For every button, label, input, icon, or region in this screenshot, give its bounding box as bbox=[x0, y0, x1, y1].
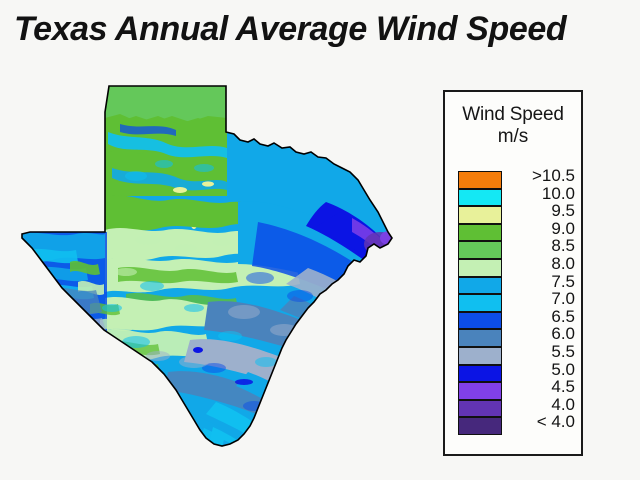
legend-color-swatch bbox=[458, 294, 502, 312]
legend-color-swatch bbox=[458, 347, 502, 365]
legend-color-swatch bbox=[458, 417, 502, 435]
legend-label: 4.0 bbox=[505, 396, 575, 414]
page-title: Texas Annual Average Wind Speed bbox=[14, 10, 566, 49]
legend-color-swatch bbox=[458, 329, 502, 347]
legend-label: 10.0 bbox=[505, 185, 575, 203]
legend-entries: >10.510.09.59.08.58.07.57.06.56.05.55.04… bbox=[445, 171, 581, 435]
texas-wind-speed-map bbox=[8, 72, 438, 472]
legend-label: < 4.0 bbox=[505, 413, 575, 431]
legend-label: 7.0 bbox=[505, 290, 575, 308]
legend-label: 5.0 bbox=[505, 361, 575, 379]
legend-color-swatch bbox=[458, 206, 502, 224]
legend-color-swatch bbox=[458, 189, 502, 207]
legend-label: 9.0 bbox=[505, 220, 575, 238]
legend-color-swatch bbox=[458, 400, 502, 418]
legend-panel: Wind Speed m/s >10.510.09.59.08.58.07.57… bbox=[443, 90, 583, 456]
map-container bbox=[8, 72, 438, 472]
legend-color-swatch bbox=[458, 277, 502, 295]
legend-label: 6.0 bbox=[505, 325, 575, 343]
wind-speed-map-page: Texas Annual Average Wind Speed bbox=[0, 0, 640, 480]
legend-label: 8.0 bbox=[505, 255, 575, 273]
legend-label: 5.5 bbox=[505, 343, 575, 361]
legend-color-swatch bbox=[458, 171, 502, 189]
legend-row: < 4.0 bbox=[445, 417, 581, 435]
legend-label: 8.5 bbox=[505, 237, 575, 255]
legend-label: 7.5 bbox=[505, 273, 575, 291]
legend-color-swatch bbox=[458, 259, 502, 277]
legend-color-swatch bbox=[458, 241, 502, 259]
legend-label: 6.5 bbox=[505, 308, 575, 326]
legend-label: 4.5 bbox=[505, 378, 575, 396]
legend-label: >10.5 bbox=[505, 167, 575, 185]
legend-color-swatch bbox=[458, 224, 502, 242]
legend-color-swatch bbox=[458, 382, 502, 400]
wind-speed-raster bbox=[8, 72, 438, 472]
legend-units: m/s bbox=[445, 126, 581, 148]
legend-label: 9.5 bbox=[505, 202, 575, 220]
legend-title: Wind Speed bbox=[445, 104, 581, 126]
legend-color-swatch bbox=[458, 312, 502, 330]
legend-color-swatch bbox=[458, 365, 502, 383]
